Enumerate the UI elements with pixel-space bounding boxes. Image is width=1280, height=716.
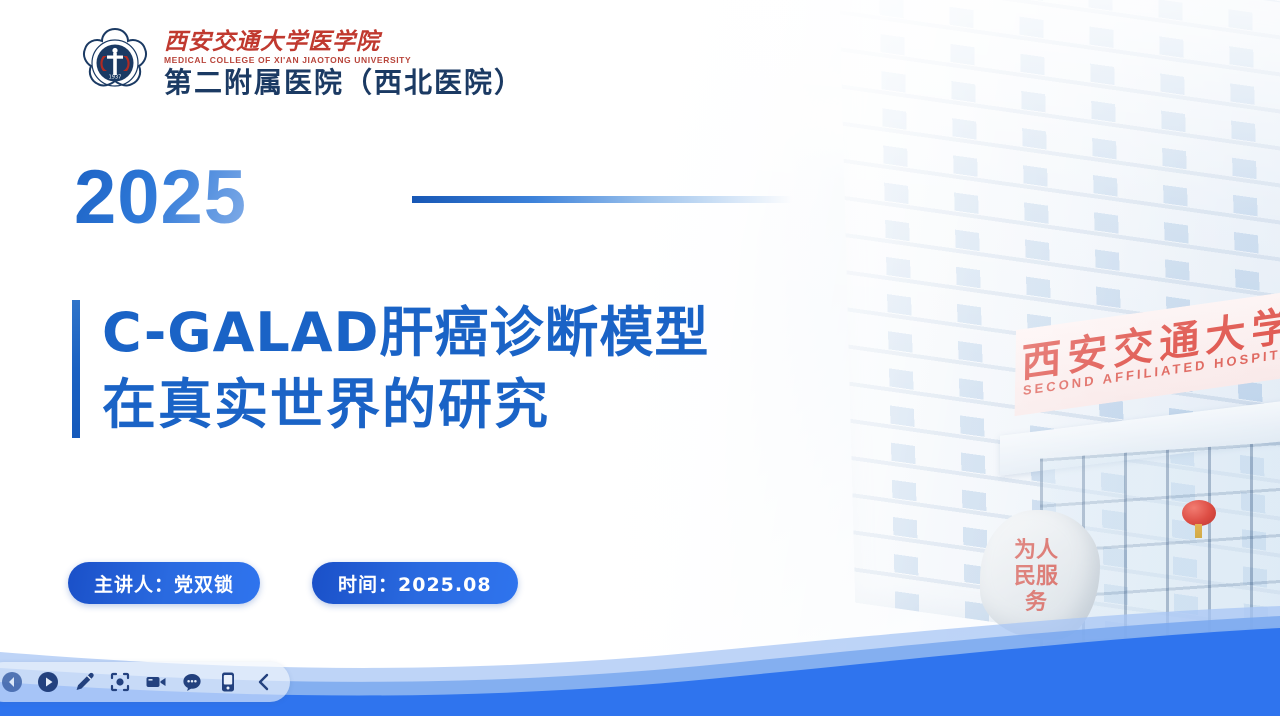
chat-bubble-icon[interactable] xyxy=(174,664,210,700)
pencil-icon[interactable] xyxy=(66,664,102,700)
title-line-2: 在真实世界的研究 xyxy=(102,372,709,438)
presentation-slide: 为人民服务 西安交通大学第二 SECOND AFFILIATED HOSPITA… xyxy=(0,0,1280,716)
xjtu-emblem-icon: 1937 xyxy=(78,26,152,100)
meta-pill-group: 主讲人：党双锁 时间：2025.08 xyxy=(68,562,518,604)
chevron-left-icon[interactable] xyxy=(246,664,282,700)
video-camera-icon[interactable] xyxy=(138,664,174,700)
college-name-cn: 西安交通大学医学院 xyxy=(164,30,524,54)
title-lines: C-GALAD肝癌诊断模型 在真实世界的研究 xyxy=(102,300,709,438)
slide-title: C-GALAD肝癌诊断模型 在真实世界的研究 xyxy=(72,300,709,438)
logo-text-block: 西安交通大学医学院 MEDICAL COLLEGE OF XI'AN JIAOT… xyxy=(164,28,524,99)
date-pill: 时间：2025.08 xyxy=(312,562,518,604)
hospital-logo: 1937 西安交通大学医学院 MEDICAL COLLEGE OF XI'AN … xyxy=(78,26,524,100)
header-divider-rule xyxy=(412,196,792,203)
mobile-phone-icon[interactable] xyxy=(210,664,246,700)
bottom-toolbar[interactable] xyxy=(0,662,290,702)
title-line-1: C-GALAD肝癌诊断模型 xyxy=(102,300,709,366)
svg-text:1937: 1937 xyxy=(109,75,122,81)
speaker-pill: 主讲人：党双锁 xyxy=(68,562,260,604)
title-accent-bar xyxy=(72,300,80,438)
play-circle-icon[interactable] xyxy=(30,664,66,700)
college-name-en: MEDICAL COLLEGE OF XI'AN JIAOTONG UNIVER… xyxy=(164,55,524,65)
scan-frame-icon[interactable] xyxy=(102,664,138,700)
hospital-name-cn: 第二附属医院（西北医院） xyxy=(164,68,524,99)
back-circle-icon[interactable] xyxy=(0,664,30,700)
year-label: 2025 xyxy=(74,160,247,236)
